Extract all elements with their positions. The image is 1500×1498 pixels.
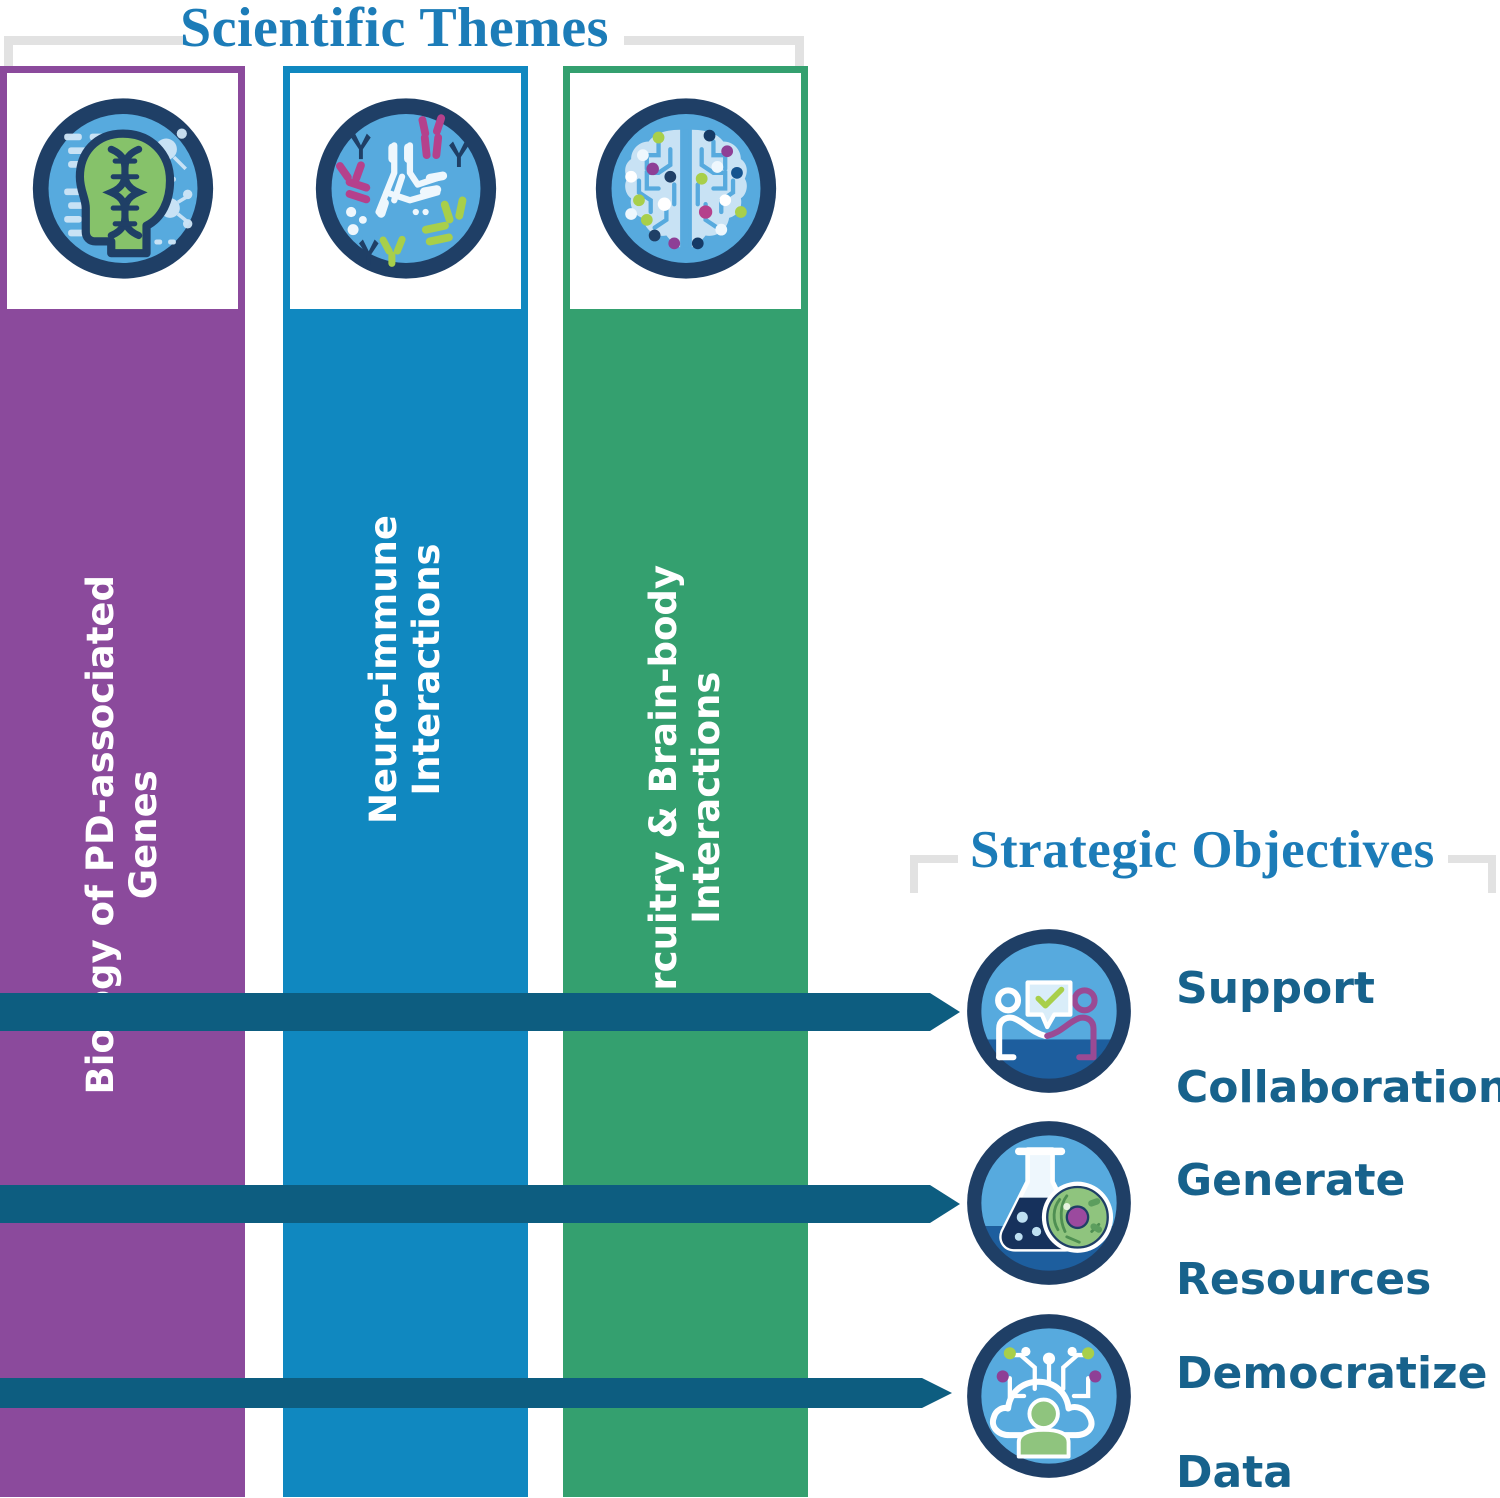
objective-label: Support Collaboration [1176, 915, 1500, 1112]
objective-label: Democratize Data [1176, 1300, 1487, 1497]
diagram-canvas: Scientific Themes [0, 0, 1500, 1497]
collaboration-people-icon [960, 922, 1138, 1105]
antibodies-icon [308, 91, 504, 292]
objective-label: Generate Resources [1176, 1107, 1431, 1304]
theme-label-line1: Circuitry & Brain-body [642, 565, 685, 1030]
cloud-data-person-icon [960, 1307, 1138, 1490]
brain-circuit-icon [588, 91, 784, 292]
theme-icon-card [0, 66, 245, 316]
theme-column-neuro-immune-interactions[interactable]: Neuro-immune Interactions [283, 66, 528, 1497]
objective-democratize-data[interactable]: Democratize Data [960, 1300, 1487, 1497]
theme-icon-card [283, 66, 528, 316]
theme-label-line1: Neuro-immune [362, 515, 405, 824]
arrow-to-democratize-data [0, 1372, 955, 1414]
theme-label-line2: Genes [122, 770, 165, 899]
objective-label-line1: Support [1176, 963, 1375, 1014]
theme-column-circuitry-and-brain-body-interactions[interactable]: Circuitry & Brain-body Interactions [563, 66, 808, 1497]
objective-label-line1: Generate [1176, 1155, 1405, 1206]
objective-label-line2: Collaboration [1176, 1062, 1500, 1113]
objective-label-line2: Data [1176, 1447, 1293, 1498]
theme-color-band: Neuro-immune Interactions [283, 315, 528, 1497]
objective-label-line1: Democratize [1176, 1348, 1487, 1399]
arrow-to-support-collaboration [0, 988, 962, 1036]
head-dna-icon [25, 91, 221, 292]
theme-label-line2: Interactions [685, 672, 728, 924]
theme-color-band: Circuitry & Brain-body Interactions [563, 315, 808, 1497]
theme-label: Circuitry & Brain-body Interactions [643, 565, 729, 1030]
objective-generate-resources[interactable]: Generate Resources [960, 1107, 1431, 1304]
objective-support-collaboration[interactable]: Support Collaboration [960, 915, 1500, 1112]
arrow-to-generate-resources [0, 1180, 962, 1228]
objectives-section-title: Strategic Objectives [970, 820, 1435, 880]
theme-color-band: Biology of PD-associated Genes [0, 315, 245, 1497]
objective-label-line2: Resources [1176, 1254, 1431, 1305]
themes-section-title: Scientific Themes [180, 0, 609, 60]
theme-icon-card [563, 66, 808, 316]
flask-cell-icon [960, 1114, 1138, 1297]
theme-label: Neuro-immune Interactions [363, 515, 449, 824]
theme-column-biology-of-pd-associated-genes[interactable]: Biology of PD-associated Genes [0, 66, 245, 1497]
theme-label-line2: Interactions [405, 543, 448, 795]
